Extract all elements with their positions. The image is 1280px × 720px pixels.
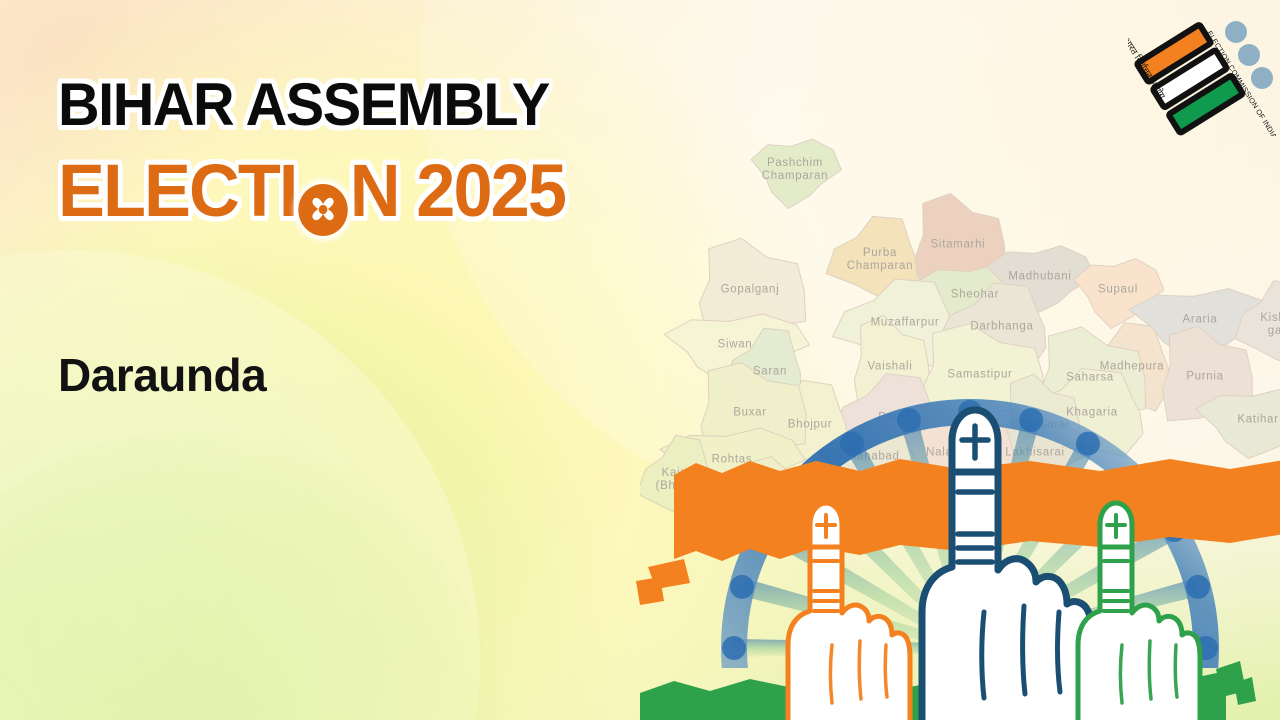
flag-saffron-fleck-2 [636,577,664,605]
map-district-label: Madhubani [1008,271,1071,284]
map-district-label: Vaishali [867,361,912,374]
map-district-label: Muzaffarpur [871,317,940,330]
election-poster: PashchimChamparanPurbaChamparanGopalganj… [0,0,1280,720]
map-district-label: Buxar [733,407,767,420]
map-district-label: Purnia [1186,371,1223,384]
eci-logo-svg: भारत निर्वाचन आयोग ELECTION COMMISSION O… [1128,8,1276,136]
hand-left-svg [770,495,915,720]
map-district-label: Siwan [718,339,753,352]
map-district-label: Supaul [1098,284,1138,297]
map-district-label: PashchimChamparan [762,157,828,183]
map-district-label: Saran [753,366,787,379]
map-district-label: Kishanganj [1260,312,1280,338]
map-district-label: Saharsa [1066,372,1114,385]
map-district-label: Sitamarhi [931,239,986,252]
voter-hand-right [1060,495,1210,720]
election-commission-of-india-logo: भारत निर्वाचन आयोग ELECTION COMMISSION O… [1128,8,1276,136]
voter-hand-left [770,495,915,720]
voter-hands-group [770,400,1240,720]
hand-right-svg [1060,495,1210,720]
map-district-label: Sheohar [951,289,999,302]
map-district-label: Darbhanga [970,321,1033,334]
map-district-label: Gopalganj [721,284,780,297]
map-district-label: Araria [1183,314,1218,327]
map-district-label: Katihar [1237,414,1278,427]
map-district-label: PurbaChamparan [847,247,913,273]
map-district-label: Samastipur [947,369,1012,382]
